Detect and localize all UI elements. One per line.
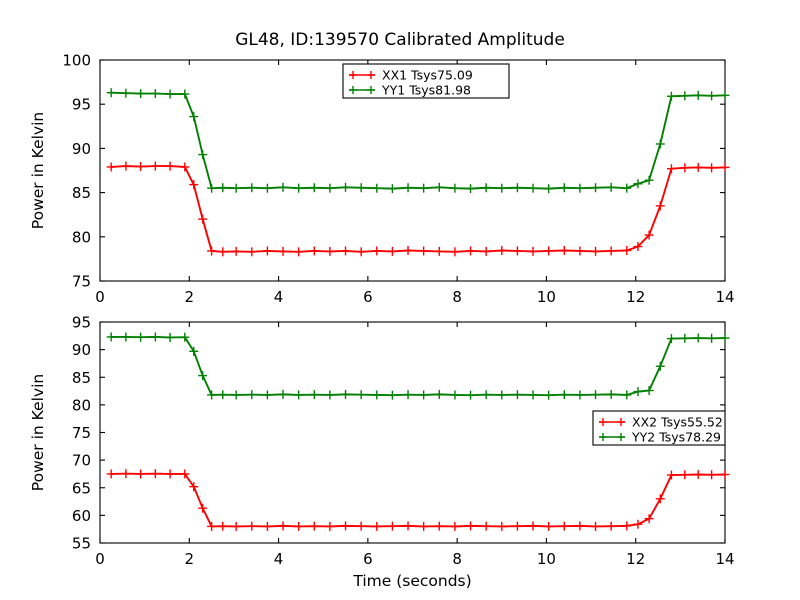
xtick-label-top: 4: [274, 288, 284, 306]
figure-title: GL48, ID:139570 Calibrated Amplitude: [235, 30, 565, 50]
plot-svg: GL48, ID:139570 Calibrated Amplitude0246…: [0, 0, 800, 600]
ytick-label-bottom: 55: [72, 535, 91, 553]
xtick-label-top: 10: [537, 288, 556, 306]
ytick-label-bottom: 70: [72, 452, 91, 470]
xtick-label-top: 12: [626, 288, 645, 306]
legend-top[interactable]: XX1 Tsys75.09YY1 Tsys81.98: [343, 64, 509, 98]
xtick-label-top: 14: [715, 288, 734, 306]
ytick-label-top: 100: [62, 52, 91, 70]
xtick-label-bottom: 8: [452, 550, 462, 568]
series-line: [111, 93, 725, 189]
ytick-label-top: 90: [72, 140, 91, 158]
ytick-label-bottom: 95: [72, 314, 91, 332]
xtick-label-top: 6: [363, 288, 373, 306]
ytick-label-bottom: 65: [72, 479, 91, 497]
legend-label-top: XX1 Tsys75.09: [382, 68, 473, 83]
xtick-label-top: 0: [95, 288, 105, 306]
ytick-label-top: 75: [72, 273, 91, 291]
series-line: [111, 474, 725, 527]
xtick-label-bottom: 14: [715, 550, 734, 568]
ytick-label-bottom: 80: [72, 396, 91, 414]
ytick-label-top: 95: [72, 96, 91, 114]
panel-top: 024681012147580859095100Power in KelvinX…: [29, 52, 735, 307]
ytick-label-top: 85: [72, 184, 91, 202]
ytick-label-top: 80: [72, 228, 91, 246]
panel-bottom: 02468101214556065707580859095Power in Ke…: [29, 314, 735, 591]
ytick-label-bottom: 75: [72, 424, 91, 442]
xtick-label-bottom: 4: [274, 550, 284, 568]
xtick-label-bottom: 2: [185, 550, 195, 568]
figure-canvas: GL48, ID:139570 Calibrated Amplitude0246…: [0, 0, 800, 600]
series-line: [111, 166, 725, 252]
ytick-label-bottom: 90: [72, 341, 91, 359]
xtick-label-bottom: 0: [95, 550, 105, 568]
legend-label-top: YY1 Tsys81.98: [381, 83, 471, 98]
ytick-label-bottom: 60: [72, 507, 91, 525]
xtick-label-bottom: 6: [363, 550, 373, 568]
xtick-label-top: 8: [452, 288, 462, 306]
xlabel-bottom: Time (seconds): [352, 572, 471, 590]
ylabel-bottom: Power in Kelvin: [29, 374, 47, 491]
xtick-label-bottom: 12: [626, 550, 645, 568]
xtick-label-bottom: 10: [537, 550, 556, 568]
legend-label-bottom: XX2 Tsys55.52: [632, 415, 723, 430]
xtick-label-top: 2: [185, 288, 195, 306]
legend-bottom[interactable]: XX2 Tsys55.52YY2 Tsys78.29: [593, 411, 725, 445]
series-line: [111, 337, 725, 395]
ytick-label-bottom: 85: [72, 369, 91, 387]
legend-label-bottom: YY2 Tsys78.29: [631, 430, 721, 445]
ylabel-top: Power in Kelvin: [29, 112, 47, 229]
